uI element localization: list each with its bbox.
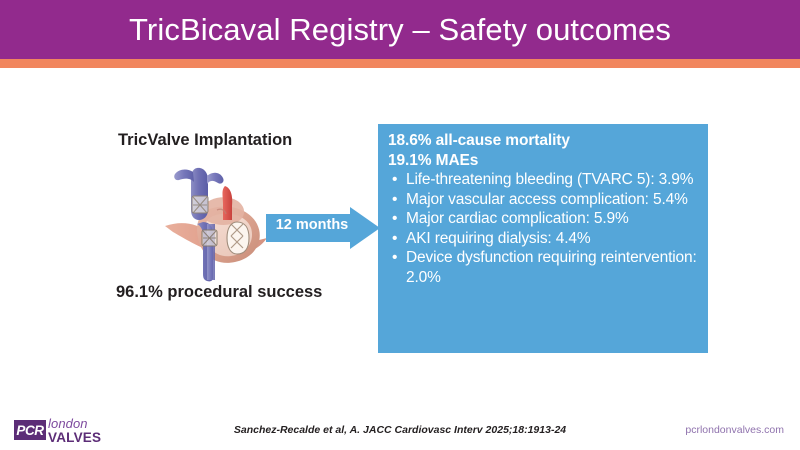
citation-text: Sanchez-Recalde et al, A. JACC Cardiovas…	[0, 424, 800, 436]
list-item-label: Device dysfunction requiring reintervent…	[406, 249, 697, 286]
bullet-glyph: •	[392, 248, 397, 268]
list-item-label: Major cardiac complication: 5.9%	[406, 210, 629, 227]
list-item: • AKI requiring dialysis: 4.4%	[388, 229, 700, 249]
page-title: TricBicaval Registry – Safety outcomes	[0, 0, 800, 59]
website-url[interactable]: pcrlondonvalves.com	[685, 424, 784, 436]
list-item: • Device dysfunction requiring reinterve…	[388, 248, 700, 287]
bullet-glyph: •	[392, 229, 397, 249]
timeline-arrow: 12 months	[264, 206, 382, 250]
left-panel-heading: TricValve Implantation	[118, 131, 292, 150]
bullet-glyph: •	[392, 190, 397, 210]
outcome-headline-maes: 19.1% MAEs	[388, 151, 700, 171]
bullet-glyph: •	[392, 170, 397, 190]
procedural-success-caption: 96.1% procedural success	[116, 283, 322, 302]
list-item-label: AKI requiring dialysis: 4.4%	[406, 230, 590, 247]
arrow-label: 12 months	[272, 217, 352, 233]
list-item: • Major cardiac complication: 5.9%	[388, 209, 700, 229]
list-item-label: Life-threatening bleeding (TVARC 5): 3.9…	[406, 171, 693, 188]
list-item: • Life-threatening bleeding (TVARC 5): 3…	[388, 170, 700, 190]
heart-tricuspid-implant-illustration	[163, 166, 275, 282]
list-item: • Major vascular access complication: 5.…	[388, 190, 700, 210]
outcome-headline-mortality: 18.6% all-cause mortality	[388, 131, 700, 151]
outcome-bullet-list: • Life-threatening bleeding (TVARC 5): 3…	[388, 170, 700, 287]
list-item-label: Major vascular access complication: 5.4%	[406, 191, 688, 208]
safety-outcomes-box: 18.6% all-cause mortality 19.1% MAEs • L…	[378, 124, 708, 353]
header-accent-rule	[0, 59, 800, 68]
bullet-glyph: •	[392, 209, 397, 229]
